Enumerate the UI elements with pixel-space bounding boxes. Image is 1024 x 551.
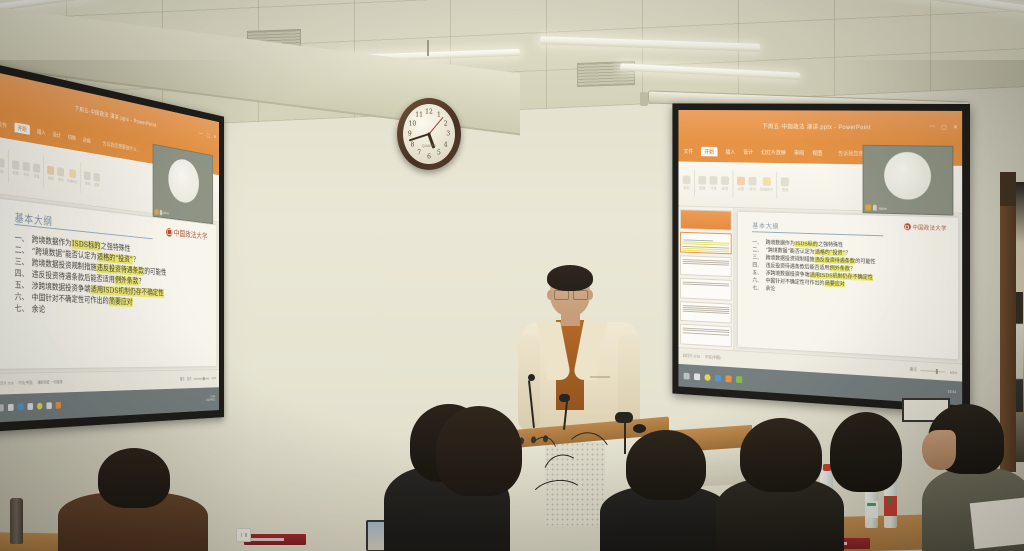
thermos-left [10,498,23,544]
tab-insert-r[interactable]: 插入 [725,148,735,156]
status-accessibility[interactable]: 辅助功能: 一切就绪 [37,380,62,385]
video-call-participant-tile[interactable]: Alice [153,144,214,224]
door-transom [1000,172,1016,206]
zoom-level-label-r: 63% [950,370,957,374]
mic-icon[interactable] [160,209,163,214]
clock-numeral-9: 9 [408,131,412,138]
item-number: 五、 [15,279,29,291]
audience-hair [98,448,170,508]
item-number: 七、 [752,283,762,291]
ribbon-group-shapes-r[interactable]: 绘图 [737,177,745,192]
slide-thumbnail-2-r[interactable] [680,232,731,254]
tab-view-r[interactable]: 视图 [812,149,822,157]
status-slide-count-r: 幻灯片 2/18 [683,354,700,360]
slide-heading-r: 基本大纲 [752,219,779,229]
window-controls-r[interactable]: — ▢ ✕ [929,111,958,143]
status-right-group-r[interactable]: 备注 63% [910,367,958,375]
clock-numeral-4: 4 [444,141,448,148]
audience-hair [830,412,902,492]
status-language-r[interactable]: 中文(中国) [705,355,721,361]
audience-papers [970,497,1024,549]
university-seal-icon [904,223,911,230]
slide-logo: 中国政法大学 [166,226,207,242]
ppt-body-r: 中国政法大学 基本大纲 一、跨境数据作为ISDS标的之强特殊性 二、“跨境数据”… [678,206,962,363]
audience-member-back-center [436,406,522,496]
ribbon-group-arrange[interactable]: 排列 [57,167,64,183]
video-call-participant-tile-r[interactable]: Alice [863,145,953,216]
tab-animations[interactable]: 动画 [83,136,91,145]
slide-outline-list-r: 一、跨境数据作为ISDS标的之强特殊性 二、“跨境数据”能否认定为适格的“投资”… [752,238,944,300]
search-icon[interactable] [694,373,700,380]
lecture-hall-photo: 12 1 2 3 4 5 6 7 8 9 10 11 QUARTZ 下周五-中国… [0,0,1024,551]
ribbon-group-quick-style[interactable]: 快速样式 [67,168,78,185]
status-comments-button[interactable]: 批注 [187,377,192,381]
slide-canvas-r[interactable]: 中国政法大学 基本大纲 一、跨境数据作为ISDS标的之强特殊性 二、“跨境数据”… [734,208,962,364]
tab-insert[interactable]: 插入 [37,128,46,137]
ribbon-group-paragraph[interactable]: 段落 [33,163,40,179]
item-post: ？ [139,278,145,287]
ribbon-label-paragraph: 段落 [34,174,40,180]
ribbon-label-arrange: 排列 [58,177,63,182]
ribbon-label-replace: 替换 [94,182,99,187]
audience-member-right [916,404,1024,551]
ribbon-label-arrange-r: 排列 [749,187,755,192]
wall-clock: 12 1 2 3 4 5 6 7 8 9 10 11 QUARTZ [397,98,461,170]
maximize-icon[interactable]: ▢ [206,132,210,139]
screen-surface-left: 下周五-中国政法 演讲.pptx - PowerPoint — ▢ ✕ 文件 开… [0,72,219,423]
clock-face: 12 1 2 3 4 5 6 7 8 9 10 11 QUARTZ [403,104,455,164]
projection-screen-left: 下周五-中国政法 演讲.pptx - PowerPoint — ▢ ✕ 文件 开… [0,62,224,432]
task-view-icon[interactable] [18,404,24,411]
thumb-lines-5r [683,305,729,314]
ribbon-label-font: 字体 [23,172,29,178]
ribbon-group-font-r[interactable]: 字体 [710,176,718,191]
ribbon-label-font-r: 字体 [710,187,716,192]
microphone-head-1 [528,374,535,381]
thumb-lines-r [683,242,729,255]
ppt-title-text-r: 下周五-中国政法 演讲.pptx - PowerPoint [762,121,871,130]
bottle-label [865,501,878,518]
browser-icon[interactable] [715,374,721,381]
item-number: 四、 [15,267,29,280]
ribbon-separator-r [694,170,695,197]
avatar [168,157,199,205]
thumb-lines-4r [683,282,729,287]
clock-numeral-3: 3 [446,131,450,138]
tab-home[interactable]: 开始 [15,122,30,135]
tab-file[interactable]: 文件 [0,120,7,130]
audience-hair [436,406,522,496]
status-language[interactable]: 中文(中国) [18,381,32,386]
university-name: 中国政法大学 [174,227,208,242]
item-number: 七、 [15,303,29,315]
university-seal-icon [166,228,172,237]
ribbon-group-font[interactable]: 字体 [23,161,30,178]
speaker-pocket [590,376,610,378]
ribbon-label-find-r: 查找 [782,188,789,193]
item-number: 二、 [15,244,29,257]
audience-hair [740,418,822,492]
taskbar-date: 2024/4/21 [206,398,215,402]
powerpoint-icon[interactable] [725,375,731,382]
ribbon-label-find: 查找 [85,181,90,186]
start-icon[interactable] [0,405,4,412]
ribbon-group-new-slide-r[interactable]: 新建 [698,176,706,191]
clock-second-hand [429,117,444,134]
audience-member-far-right-back [830,412,902,492]
ppt-title-text: 下周五-中国政法 演讲.pptx - PowerPoint [75,104,157,129]
speaker-glasses-left [554,290,569,300]
screen-bracket-right [640,92,648,106]
slide-thumbnail-1-r[interactable] [680,209,731,231]
powerpoint-window-left: 下周五-中国政法 演讲.pptx - PowerPoint — ▢ ✕ 文件 开… [0,72,219,423]
close-icon[interactable]: ✕ [213,134,216,140]
ribbon-label-new-r: 新建 [699,186,705,191]
status-notes-button[interactable]: 备注 [180,377,185,381]
speaker-hair [547,265,593,291]
ribbon-label-drawing: 绘图 [48,176,54,182]
ribbon-group-paragraph-r[interactable]: 段落 [721,176,729,191]
ppt-title-bar-r: 下周五-中国政法 演讲.pptx - PowerPoint — ▢ ✕ [678,110,962,143]
item-number: 三、 [15,256,29,269]
clock-numeral-7: 7 [417,150,421,157]
taskbar-clock-r[interactable]: 15:41 [948,391,957,396]
taskbar-clock[interactable]: 15:41 2024/4/21 [206,395,215,402]
speaker-ear-left [547,290,553,300]
tab-home-r[interactable]: 开始 [701,146,718,156]
ribbon-group-shapes[interactable]: 绘图 [47,165,54,181]
clock-numeral-10: 10 [409,120,417,127]
tab-transitions[interactable]: 切换 [68,133,76,142]
pin-icon[interactable] [154,209,158,215]
ceiling-light-rod [427,40,429,56]
minimize-icon[interactable]: — [199,131,203,137]
university-name-r: 中国政法大学 [913,223,947,232]
mic-icon[interactable] [873,205,877,211]
bottle-label [884,496,897,516]
ribbon-separator-3 [81,162,82,193]
slide-thumbnail-4-r[interactable] [680,278,731,301]
audience-member-center-right [716,418,844,551]
participant-name-r: Alice [879,205,887,210]
slide-thumbnail-5-r[interactable] [680,301,731,324]
participant-label-r: Alice [865,205,886,211]
participant-label: Alice [154,209,168,216]
wall-power-socket [236,528,251,542]
audience-hair [626,430,706,500]
audience-face [922,430,956,470]
slide-logo-r: 中国政法大学 [904,223,947,232]
slide-thumbnail-pane-r[interactable] [678,206,734,350]
speaker-presenter [520,268,640,436]
ribbon-label-new: 新建 [13,170,19,176]
clock-numeral-12: 12 [425,108,433,115]
ribbon-label-paste: 粘贴 [0,168,4,174]
powerpoint-icon[interactable] [56,402,61,409]
ribbon-group-paste[interactable]: 粘贴 [0,157,5,174]
microphone-head-2 [559,394,570,402]
status-notes-button-r[interactable]: 备注 [910,367,917,372]
ribbon-separator-3r [777,172,778,199]
camera-body [615,412,633,423]
thumb-lines-6r [683,328,729,336]
ribbon-group-quick-style-r[interactable]: 快速样式 [760,177,773,193]
item-post: ？ [133,256,139,265]
minimize-icon[interactable]: — [929,124,935,130]
clock-numeral-2: 2 [444,120,448,127]
taskbar-time-r: 15:41 [948,390,957,395]
tab-slideshow-r[interactable]: 幻灯片放映 [761,148,786,156]
item-pre: 余论 [766,286,776,292]
clock-brand-label: QUARTZ [422,144,436,148]
start-icon[interactable] [684,372,690,379]
ribbon-label-quickstyle-r: 快速样式 [760,188,773,193]
ribbon-label-paste-r: 粘贴 [684,186,690,191]
status-slide-count: 幻灯片 2/18 [0,381,14,386]
folder-icon[interactable] [46,403,51,410]
speaker-glasses-right [573,290,588,300]
mail-icon[interactable] [704,374,710,381]
ribbon-group-find[interactable]: 查找 [84,171,91,187]
audience-member-front-left [58,448,208,551]
slide-thumbnail-6-r[interactable] [680,324,731,347]
close-icon[interactable]: ✕ [953,124,958,131]
tab-design-r[interactable]: 设计 [743,148,753,156]
status-right-group[interactable]: 备注 批注 63% [180,376,216,381]
zoom-slider-r[interactable] [921,370,946,373]
ribbon-group-find-r[interactable]: 查找 [781,178,789,194]
ribbon-label-drawing-r: 绘图 [738,187,744,192]
window-controls[interactable]: — ▢ ✕ [199,118,216,154]
clock-numeral-5: 5 [437,150,441,157]
clock-numeral-8: 8 [410,141,414,148]
slide-content-r: 中国政法大学 基本大纲 一、跨境数据作为ISDS标的之强特殊性 二、“跨境数据”… [738,212,959,359]
ribbon-group-paste-r[interactable]: 粘贴 [683,176,691,191]
ribbon-label-paragraph-r: 段落 [722,187,728,192]
ribbon-group-replace[interactable]: 替换 [94,172,100,188]
clock-numeral-11: 11 [415,112,423,119]
slide-content: 中国政法大学 基本大纲 一、跨境数据作为ISDS标的之强特殊性 二、“跨境数据”… [0,198,217,368]
clock-numeral-6: 6 [427,153,431,160]
screen-surface-right: 下周五-中国政法 演讲.pptx - PowerPoint — ▢ ✕ 文件 开… [678,110,962,406]
slide-outline-list: 一、跨境数据作为ISDS标的之强特殊性 二、“跨境数据”能否认定为适格的“投资”… [15,232,206,320]
tab-design[interactable]: 设计 [53,130,61,139]
clock-center-pin [428,133,431,136]
mail-icon[interactable] [37,403,43,410]
ribbon-group-arrange-r[interactable]: 排列 [748,177,756,192]
slide-divider-r [752,231,883,236]
ribbon-group-new-slide[interactable]: 新建 [12,160,19,177]
folder-icon[interactable] [736,376,742,383]
maximize-icon[interactable]: ▢ [941,124,947,131]
thumb-lines-3r [683,259,729,266]
item-number: 六、 [15,291,29,303]
projection-screen-right: 下周五-中国政法 演讲.pptx - PowerPoint — ▢ ✕ 文件 开… [672,103,970,414]
avatar [885,152,931,200]
audience-member-center-2 [600,430,730,551]
search-icon[interactable] [8,404,14,411]
participant-name: Alice [163,210,168,215]
slide-thumbnail-3-r[interactable] [680,255,731,277]
pin-icon[interactable] [865,205,871,211]
ribbon-separator-2r [733,171,734,198]
name-placard-1 [244,534,306,545]
browser-icon[interactable] [27,403,33,410]
tab-review-r[interactable]: 审阅 [794,148,804,156]
tell-me-search[interactable]: 告诉我您想要做什么... [103,140,140,154]
ribbon-label-quickstyle: 快速样式 [67,178,78,184]
tab-file-r[interactable]: 文件 [684,147,694,155]
item-pre: 余论 [32,305,46,315]
zoom-level-label: 63% [212,377,216,380]
ribbon-separator-2 [43,156,44,188]
zoom-slider[interactable] [194,378,209,380]
ribbon-separator [8,150,9,183]
